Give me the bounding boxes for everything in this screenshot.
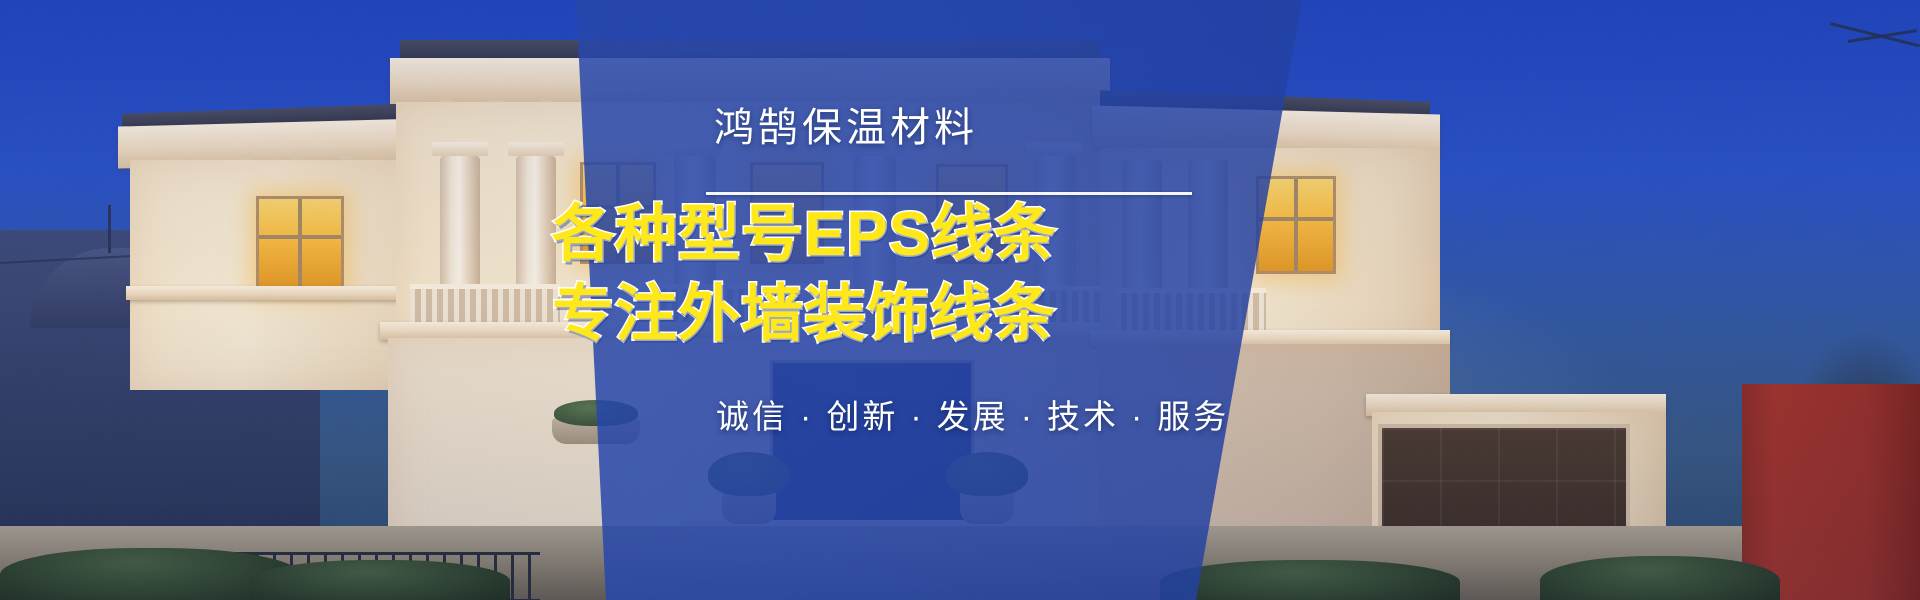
headline-line-1: 各种型号EPS线条 (552, 204, 1057, 266)
banner-content: 鸿鹄保温材料 各种型号EPS线条 专注外墙装饰线条 诚信 · 创新 · 发展 ·… (0, 0, 1920, 600)
brand-name: 鸿鹄保温材料 (714, 108, 978, 148)
title-divider (706, 192, 1192, 195)
tagline: 诚信 · 创新 · 发展 · 技术 · 服务 (716, 400, 1229, 433)
headline-line-2: 专注外墙装饰线条 (552, 284, 1056, 346)
promo-banner: 鸿鹄保温材料 各种型号EPS线条 专注外墙装饰线条 诚信 · 创新 · 发展 ·… (0, 0, 1920, 600)
